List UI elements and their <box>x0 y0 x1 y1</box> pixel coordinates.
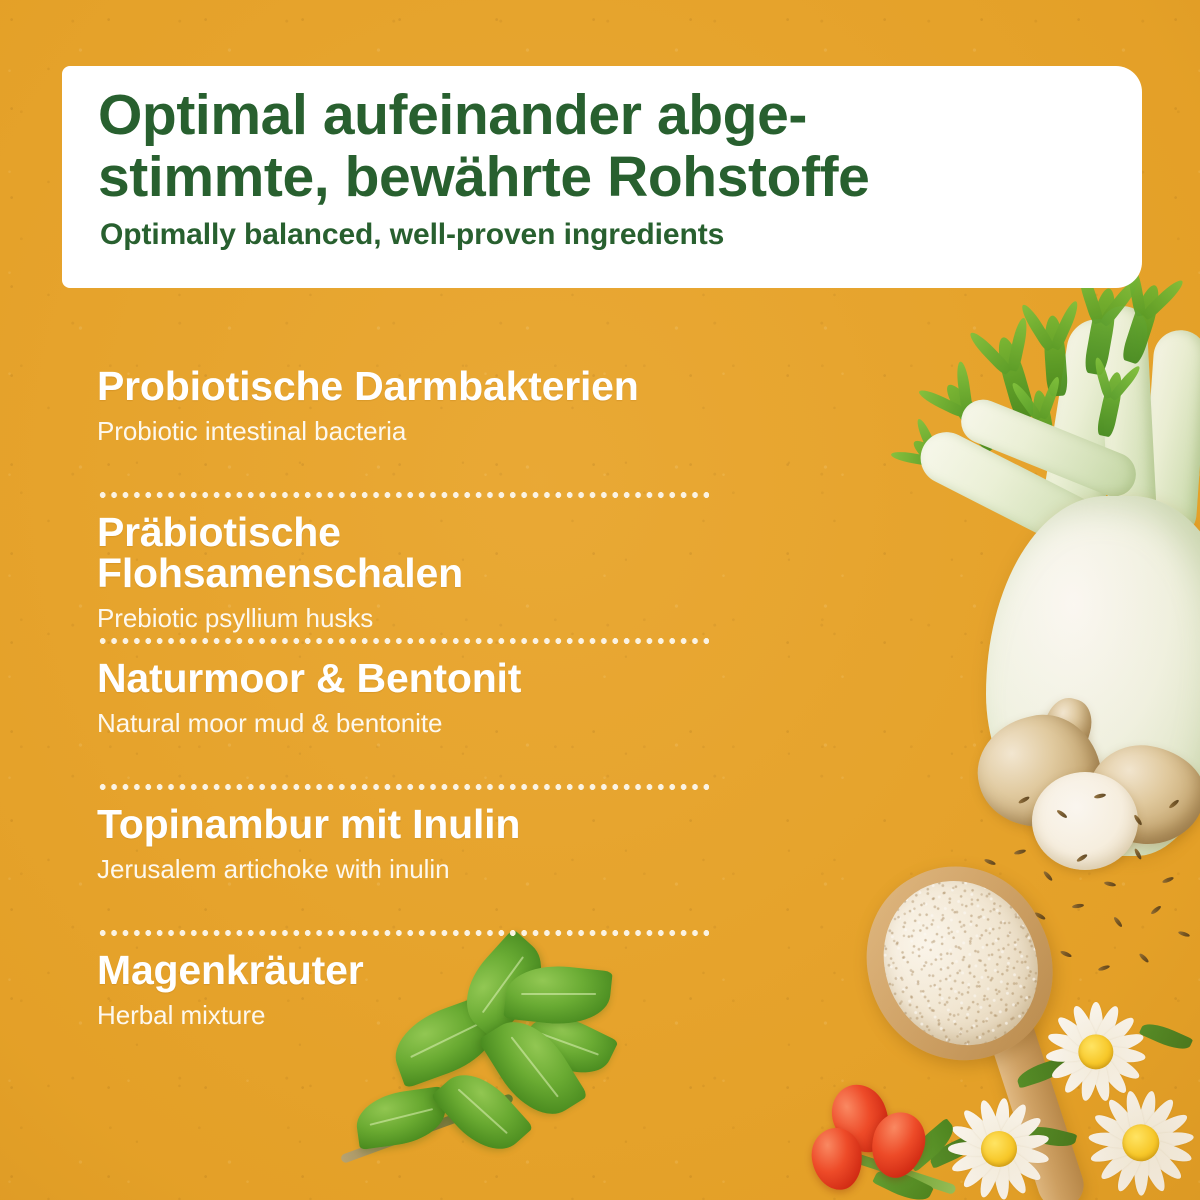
rose-hip <box>823 1076 899 1161</box>
chamomile-flower <box>1086 1088 1196 1198</box>
fennel-bulb <box>986 496 1200 856</box>
fennel-seed <box>1021 940 1032 952</box>
fennel-seed <box>1098 964 1111 972</box>
flower-petal <box>1140 1130 1194 1150</box>
flower-petal <box>1061 1048 1101 1096</box>
list-item: Topinambur mit Inulin Jerusalem artichok… <box>97 790 717 936</box>
fennel-seed <box>1168 799 1180 810</box>
fennel-seed <box>1138 952 1149 963</box>
ingredient-list: Probiotische Darmbakterien Probiotic int… <box>97 352 717 1082</box>
ingredient-name: Probiotische Darmbakterien <box>97 352 717 407</box>
list-item: Präbiotische Flohsamenschalen Prebiotic … <box>97 498 717 644</box>
fennel-seed <box>1094 793 1107 799</box>
chamomile-leaf <box>1139 1018 1193 1055</box>
fennel-seed <box>996 896 1007 907</box>
flower-petal <box>992 1098 1011 1150</box>
jerusalem-artichoke-illustration <box>976 700 1200 885</box>
ingredient-translation: Herbal mixture <box>97 1002 717 1028</box>
fennel-seed <box>1072 903 1084 909</box>
ingredient-translation: Jerusalem artichoke with inulin <box>97 856 717 882</box>
flower-petal <box>1113 1140 1148 1194</box>
chamomile-flower <box>1044 1000 1148 1104</box>
ingredient-name: Magenkräuter <box>97 936 717 991</box>
rose-hip <box>809 1126 865 1193</box>
flower-petal <box>992 1148 1011 1200</box>
fennel-seed <box>1133 848 1142 860</box>
header-card: Optimal aufeinander abge- stimmte, bewäh… <box>62 66 1142 288</box>
flower-petal <box>1088 1130 1142 1150</box>
spoon-bowl <box>833 835 1086 1094</box>
flower-petal <box>1090 1004 1123 1055</box>
flower-petal <box>1104 1096 1147 1147</box>
fennel-seed <box>1042 870 1053 882</box>
ingredient-name: Topinambur mit Inulin <box>97 790 717 845</box>
ingredient-name: Präbiotische Flohsamenschalen <box>97 498 717 594</box>
flower-petal <box>960 1107 1004 1154</box>
flower-petal <box>950 1122 1002 1155</box>
flower-petal <box>1136 1138 1185 1184</box>
chamomile-flowers-illustration <box>940 1096 1070 1200</box>
fennel-frond <box>1042 315 1068 397</box>
chamomile-leaf <box>927 1132 981 1169</box>
rose-hip-leaf <box>902 1118 961 1172</box>
rose-hip-leaf <box>872 1162 934 1200</box>
flower-petal <box>1094 1030 1146 1058</box>
fennel-seeds-illustration <box>1010 788 1200 858</box>
fennel-seed <box>1076 853 1088 863</box>
wooden-spoon-with-psyllium-husks-illustration <box>862 858 1200 1200</box>
flower-petal <box>1139 1136 1194 1166</box>
flower-petal <box>995 1114 1044 1155</box>
ingredient-translation: Prebiotic psyllium husks <box>97 605 717 631</box>
ingredient-name: Naturmoor & Bentonit <box>97 644 717 699</box>
fennel-stalk <box>1098 305 1158 542</box>
flower-center <box>1122 1124 1159 1161</box>
flower-center <box>1078 1034 1113 1069</box>
ingredient-translation: Probiotic intestinal bacteria <box>97 418 717 444</box>
page-title: Optimal aufeinander abge- stimmte, bewäh… <box>98 84 1108 208</box>
flower-petal <box>1049 1046 1099 1083</box>
flower-petal <box>1091 1048 1131 1096</box>
fennel-frond <box>1083 287 1120 376</box>
fennel-bulb-illustration <box>890 300 1200 860</box>
fennel-seed <box>1133 814 1143 826</box>
rose-hip <box>864 1106 932 1184</box>
artichoke-tuber <box>966 703 1111 841</box>
fennel-seed <box>1060 950 1073 959</box>
chamomile-leaf <box>1023 1122 1078 1151</box>
flower-petal <box>1046 1030 1098 1058</box>
flower-petal <box>1134 1143 1148 1196</box>
fennel-stalk <box>954 393 1142 503</box>
flower-petal <box>1089 1136 1144 1166</box>
flower-petal <box>1135 1096 1178 1147</box>
flower-petal <box>1089 1002 1103 1052</box>
fennel-stalk <box>1141 328 1200 541</box>
mint-stem <box>340 1093 514 1164</box>
fennel-frond <box>993 335 1037 421</box>
mint-leaf <box>353 1086 449 1150</box>
artichoke-tuber-neck <box>1036 693 1097 765</box>
flower-petal <box>1134 1140 1169 1194</box>
flower-petal <box>1089 1051 1113 1103</box>
flower-petal <box>998 1142 1051 1166</box>
fennel-seed <box>1113 916 1124 928</box>
fennel-seed <box>1178 930 1191 938</box>
flower-center <box>981 1131 1017 1167</box>
flower-petal <box>1097 1138 1146 1184</box>
flower-petal <box>1091 1014 1137 1057</box>
fennel-seed <box>1104 881 1117 887</box>
fennel-seed <box>1150 905 1162 916</box>
spoon-handle <box>980 998 1089 1200</box>
flower-petal <box>1123 1090 1148 1145</box>
flower-petal <box>1092 1110 1145 1149</box>
flower-petal <box>995 1143 1044 1184</box>
chamomile-flower <box>946 1096 1052 1200</box>
flower-petal <box>1046 1045 1097 1064</box>
psyllium-husk-powder <box>855 854 1066 1073</box>
ingredient-translation: Natural moor mud & bentonite <box>97 710 717 736</box>
flower-petal <box>1093 1046 1143 1083</box>
flower-petal <box>977 1098 1006 1151</box>
rose-hip-stem <box>847 1151 957 1195</box>
fennel-stalk <box>1033 315 1133 572</box>
flower-petal <box>948 1142 999 1156</box>
fennel-frond <box>909 435 974 491</box>
fennel-frond <box>1120 282 1165 365</box>
flower-petal <box>1137 1110 1190 1149</box>
list-item: Naturmoor & Bentonit Natural moor mud & … <box>97 644 717 790</box>
artichoke-tuber <box>1080 737 1200 854</box>
ingredient-infographic-poster: Optimal aufeinander abge- stimmte, bewäh… <box>0 0 1200 1200</box>
chamomile-leaf <box>1015 1056 1070 1088</box>
flower-petal <box>950 1143 1002 1176</box>
flower-petal <box>977 1147 1006 1200</box>
flower-petal <box>998 1132 1051 1156</box>
fennel-frond <box>1096 371 1126 438</box>
chamomile-flowers-illustration <box>1030 1000 1200 1200</box>
rose-hips-illustration <box>812 1082 972 1200</box>
fennel-frond <box>940 379 1002 453</box>
flower-petal <box>1054 1014 1100 1057</box>
flower-petal <box>960 1144 1004 1191</box>
flower-petal <box>1095 1045 1146 1064</box>
fennel-seed <box>1018 795 1030 804</box>
fennel-stalk <box>912 423 1123 565</box>
fennel-seeds-illustration <box>980 848 1200 998</box>
flower-petal <box>1079 1051 1103 1103</box>
fennel-seed <box>1162 876 1175 884</box>
fennel-frond <box>1030 389 1057 459</box>
artichoke-cut-half <box>1032 772 1138 870</box>
list-item: Magenkräuter Herbal mixture <box>97 936 717 1082</box>
list-item: Probiotische Darmbakterien Probiotic int… <box>97 352 717 498</box>
fennel-seed <box>1034 911 1046 920</box>
flower-petal <box>993 1146 1030 1197</box>
flower-petal <box>1070 1004 1103 1055</box>
page-subtitle: Optimally balanced, well-proven ingredie… <box>100 218 1108 252</box>
fennel-seed <box>1056 809 1068 819</box>
flower-petal <box>1134 1090 1159 1145</box>
flower-petal <box>993 1101 1030 1152</box>
fennel-seed <box>984 858 997 866</box>
fennel-seed <box>1014 849 1027 856</box>
